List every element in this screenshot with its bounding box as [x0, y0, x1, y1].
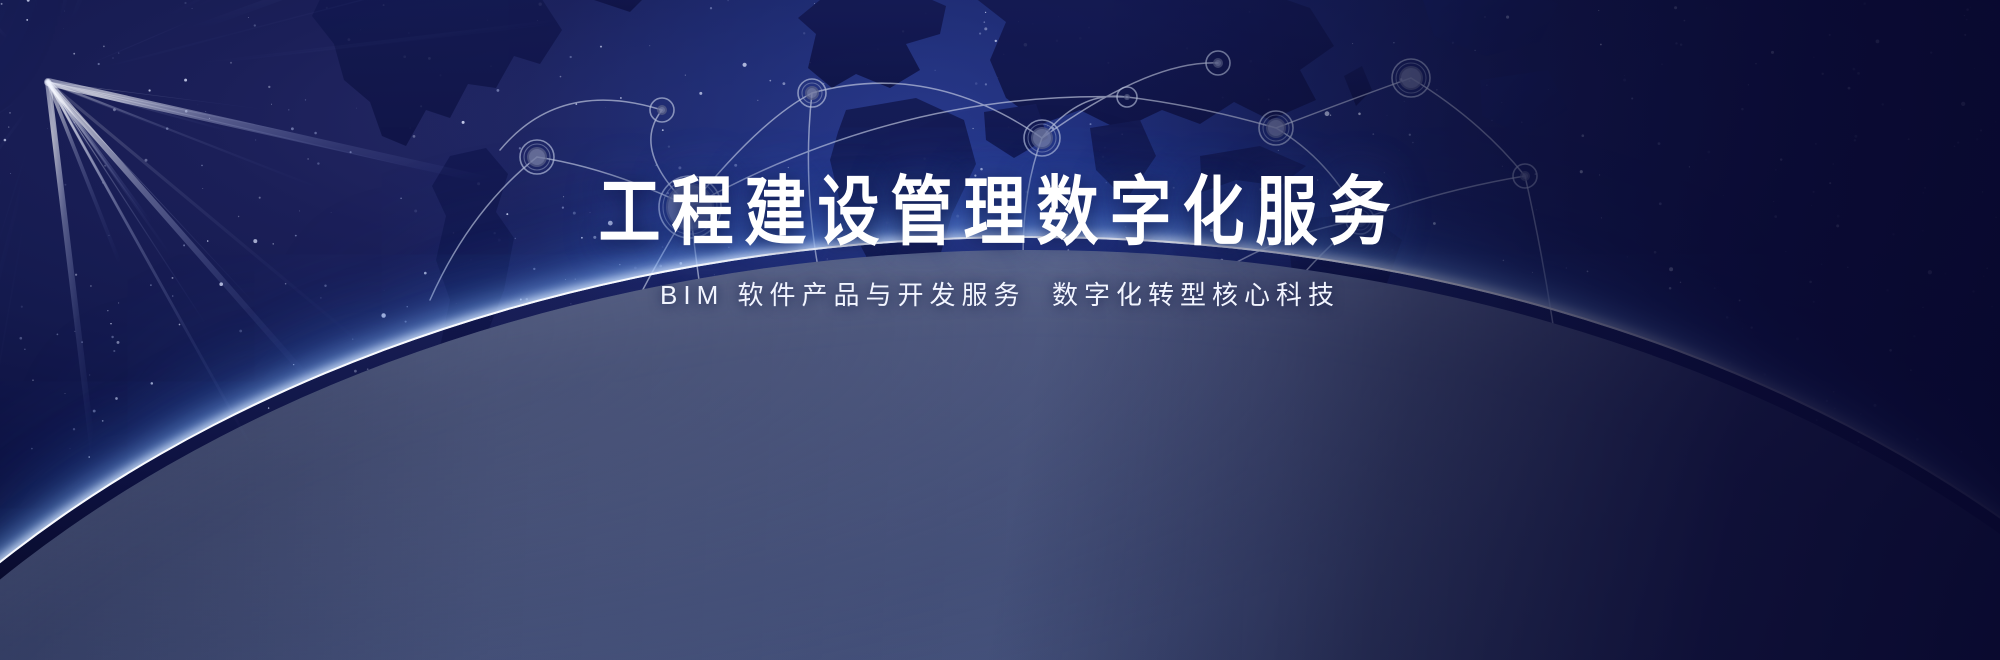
hero-copy: 工程建设管理数字化服务 BIM 软件产品与开发服务 数字化转型核心科技	[0, 176, 2000, 308]
right-edge-vignette	[0, 0, 2000, 660]
hero-banner: 工程建设管理数字化服务 BIM 软件产品与开发服务 数字化转型核心科技	[0, 0, 2000, 660]
page-subtitle: BIM 软件产品与开发服务 数字化转型核心科技	[0, 282, 2000, 308]
page-title: 工程建设管理数字化服务	[0, 176, 2000, 252]
